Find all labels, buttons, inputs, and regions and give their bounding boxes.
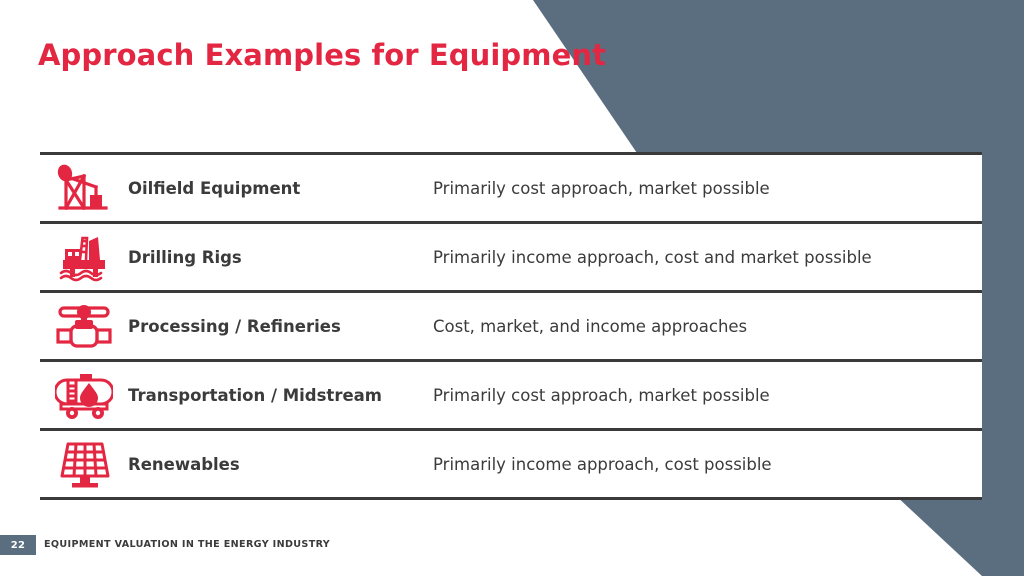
table-row: Transportation / Midstream Primarily cos… — [40, 362, 982, 428]
slide: Approach Examples for Equipment — [0, 0, 1024, 576]
table-row: Oilfield Equipment Primarily cost approa… — [40, 155, 982, 221]
tanker-railcar-icon — [40, 370, 128, 420]
footer-deck-title: EQUIPMENT VALUATION IN THE ENERGY INDUST… — [44, 539, 330, 550]
right-side-band — [982, 0, 1024, 523]
solar-panel-icon — [40, 438, 128, 490]
table-row: Drilling Rigs Primarily income approach,… — [40, 224, 982, 290]
page-title: Approach Examples for Equipment — [38, 38, 606, 72]
row-label: Processing / Refineries — [128, 317, 433, 336]
row-label: Drilling Rigs — [128, 248, 433, 267]
row-label: Oilfield Equipment — [128, 179, 433, 198]
footer-diagonal-shape — [860, 494, 1024, 576]
row-description: Primarily cost approach, market possible — [433, 179, 982, 198]
row-description: Primarily income approach, cost and mark… — [433, 248, 982, 267]
row-description: Cost, market, and income approaches — [433, 317, 982, 336]
row-description: Primarily cost approach, market possible — [433, 386, 982, 405]
approach-table: Oilfield Equipment Primarily cost approa… — [40, 152, 982, 500]
row-label: Renewables — [128, 455, 433, 474]
table-rule-bottom — [40, 497, 982, 500]
row-description: Primarily income approach, cost possible — [433, 455, 982, 474]
pumpjack-icon — [40, 162, 128, 214]
offshore-drilling-rig-icon — [40, 230, 128, 284]
row-label: Transportation / Midstream — [128, 386, 433, 405]
table-row: Processing / Refineries Cost, market, an… — [40, 293, 982, 359]
valve-icon — [40, 300, 128, 352]
header-diagonal-shape — [0, 0, 1024, 156]
table-row: Renewables Primarily income approach, co… — [40, 431, 982, 497]
page-number-badge: 22 — [0, 535, 36, 555]
